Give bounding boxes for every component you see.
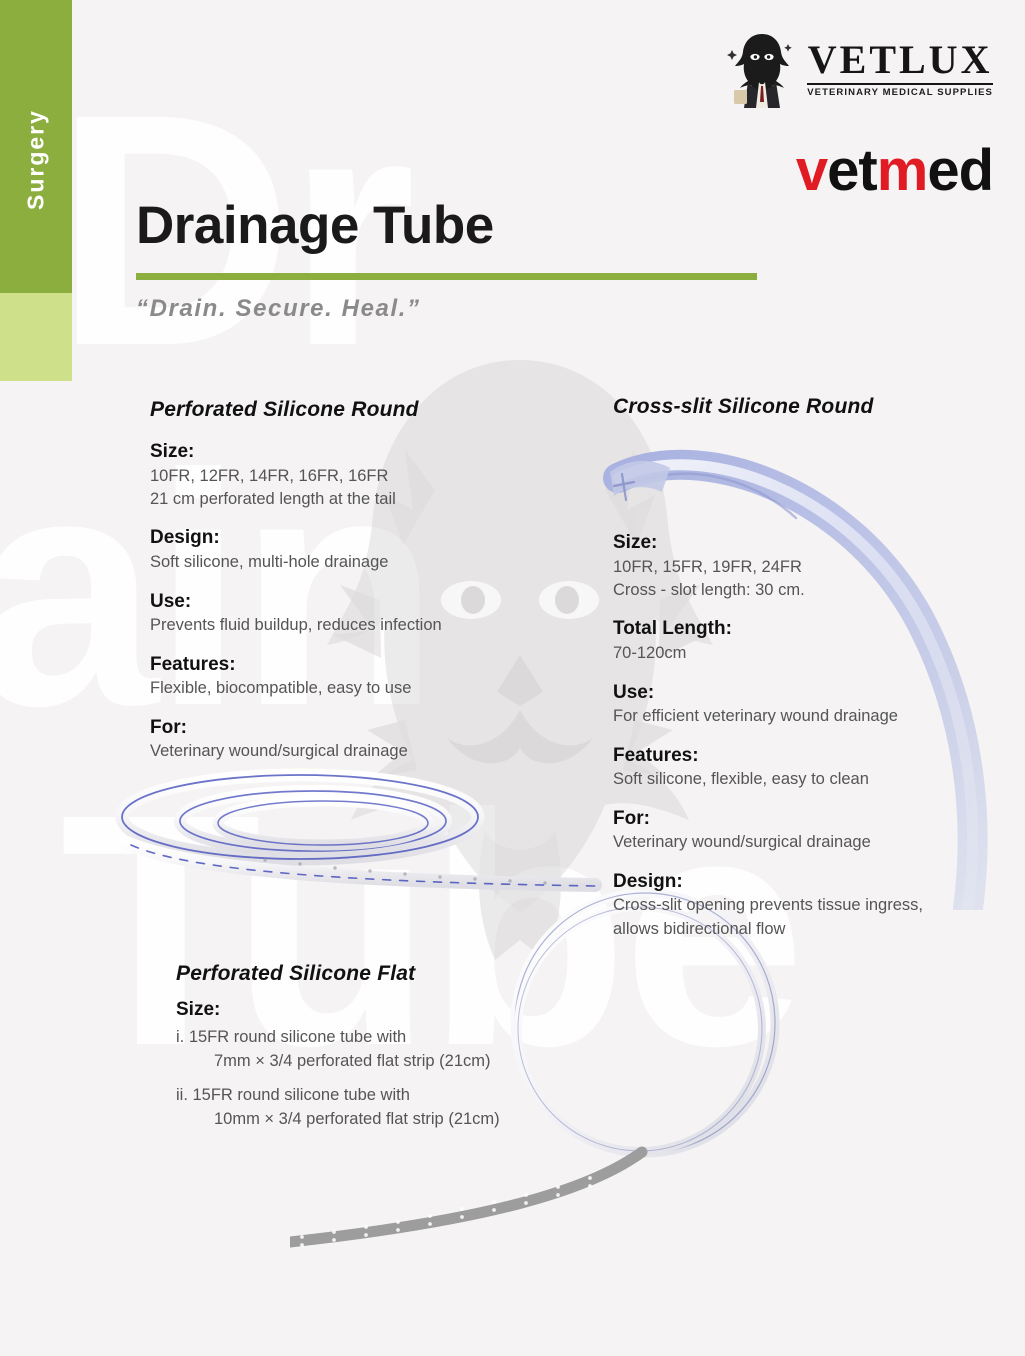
product-block-cross-slit-silicone-round: Cross-slit Silicone Round Size: 10FR, 15… bbox=[613, 395, 958, 941]
vetlux-wordmark: VETLUX VETERINARY MEDICAL SUPPLIES bbox=[807, 40, 993, 98]
product-title: Cross-slit Silicone Round bbox=[613, 395, 958, 419]
sidebar-light-block bbox=[0, 293, 72, 381]
field-value: 70-120cm bbox=[613, 642, 958, 665]
field-design: Design: Soft silicone, multi-hole draina… bbox=[150, 525, 580, 574]
field-size: Size: 10FR, 15FR, 19FR, 24FR Cross - slo… bbox=[613, 530, 958, 602]
field-value: Flexible, biocompatible, easy to use bbox=[150, 677, 580, 700]
product-block-perforated-silicone-flat: Perforated Silicone Flat Size: i. 15FR r… bbox=[176, 962, 576, 1132]
field-value: 10FR, 15FR, 19FR, 24FR Cross - slot leng… bbox=[613, 556, 958, 603]
list-item: ii. 15FR round silicone tube with 10mm ×… bbox=[176, 1084, 576, 1132]
field-total-length: Total Length: 70-120cm bbox=[613, 616, 958, 665]
field-size: Size: i. 15FR round silicone tube with 7… bbox=[176, 997, 576, 1132]
list-item: i. 15FR round silicone tube with 7mm × 3… bbox=[176, 1026, 576, 1074]
sidebar-category-label: Surgery bbox=[0, 70, 72, 250]
vetlux-lion-logo-icon bbox=[726, 30, 798, 108]
field-value: 10FR, 12FR, 14FR, 16FR, 16FR 21 cm perfo… bbox=[150, 465, 580, 512]
coiled-perforated-silicone-tube-photo bbox=[95, 765, 615, 910]
size-item-line2: 7mm × 3/4 perforated flat strip (21cm) bbox=[176, 1050, 576, 1074]
vetlux-logo: VETLUX VETERINARY MEDICAL SUPPLIES bbox=[726, 30, 993, 108]
size-item-line1: ii. 15FR round silicone tube with bbox=[176, 1084, 576, 1108]
product-title: Perforated Silicone Round bbox=[150, 398, 580, 422]
field-value: For efficient veterinary wound drainage bbox=[613, 705, 958, 728]
page-tagline: “Drain. Secure. Heal.” bbox=[136, 295, 757, 323]
datasheet-page: Dr ain Tube bbox=[0, 0, 1025, 1356]
size-item-line2: 10mm × 3/4 perforated flat strip (21cm) bbox=[176, 1108, 576, 1132]
product-fields: Size: 10FR, 15FR, 19FR, 24FR Cross - slo… bbox=[613, 530, 958, 941]
field-label: Size: bbox=[613, 530, 958, 556]
field-for: For: Veterinary wound/surgical drainage bbox=[150, 715, 580, 764]
field-design: Design: Cross-slit opening prevents tiss… bbox=[613, 869, 958, 941]
vetlux-divider bbox=[807, 83, 993, 85]
field-features: Features: Flexible, biocompatible, easy … bbox=[150, 652, 580, 701]
field-for: For: Veterinary wound/surgical drainage bbox=[613, 806, 958, 855]
field-features: Features: Soft silicone, flexible, easy … bbox=[613, 743, 958, 792]
field-label: Size: bbox=[176, 997, 576, 1023]
field-label: Features: bbox=[613, 743, 958, 769]
brand-block: VETLUX VETERINARY MEDICAL SUPPLIES vetme… bbox=[726, 30, 993, 200]
field-use: Use: Prevents fluid buildup, reduces inf… bbox=[150, 589, 580, 638]
vetmed-m: m bbox=[877, 138, 928, 203]
field-label: For: bbox=[613, 806, 958, 832]
page-header: Drainage Tube “Drain. Secure. Heal.” bbox=[136, 198, 757, 323]
field-label: Design: bbox=[150, 525, 580, 551]
field-label: Use: bbox=[150, 589, 580, 615]
page-title: Drainage Tube bbox=[136, 198, 757, 254]
title-underline bbox=[136, 273, 757, 280]
field-value: Prevents fluid buildup, reduces infectio… bbox=[150, 614, 580, 637]
field-value: Veterinary wound/surgical drainage bbox=[150, 740, 580, 763]
field-value: Cross-slit opening prevents tissue ingre… bbox=[613, 894, 958, 941]
product-title: Perforated Silicone Flat bbox=[176, 962, 576, 986]
field-size: Size: 10FR, 12FR, 14FR, 16FR, 16FR 21 cm… bbox=[150, 439, 580, 511]
vetmed-ed: ed bbox=[927, 138, 993, 203]
size-item-line1: i. 15FR round silicone tube with bbox=[176, 1026, 576, 1050]
vetmed-et: et bbox=[827, 138, 877, 203]
field-value: Soft silicone, flexible, easy to clean bbox=[613, 768, 958, 791]
size-option-list: i. 15FR round silicone tube with 7mm × 3… bbox=[176, 1026, 576, 1133]
vetlux-tagline: VETERINARY MEDICAL SUPPLIES bbox=[807, 87, 993, 98]
field-label: Design: bbox=[613, 869, 958, 895]
field-label: Use: bbox=[613, 680, 958, 706]
field-label: Features: bbox=[150, 652, 580, 678]
vetlux-name: VETLUX bbox=[807, 40, 993, 80]
product-block-perforated-silicone-round: Perforated Silicone Round Size: 10FR, 12… bbox=[150, 398, 580, 764]
field-label: Total Length: bbox=[613, 616, 958, 642]
vetmed-wordmark: vetmed bbox=[726, 142, 993, 200]
field-value: Soft silicone, multi-hole drainage bbox=[150, 551, 580, 574]
field-label: Size: bbox=[150, 439, 580, 465]
field-use: Use: For efficient veterinary wound drai… bbox=[613, 680, 958, 729]
field-label: For: bbox=[150, 715, 580, 741]
vetmed-v: v bbox=[796, 138, 827, 203]
product-fields: Size: 10FR, 12FR, 14FR, 16FR, 16FR 21 cm… bbox=[150, 439, 580, 764]
field-value: Veterinary wound/surgical drainage bbox=[613, 831, 958, 854]
